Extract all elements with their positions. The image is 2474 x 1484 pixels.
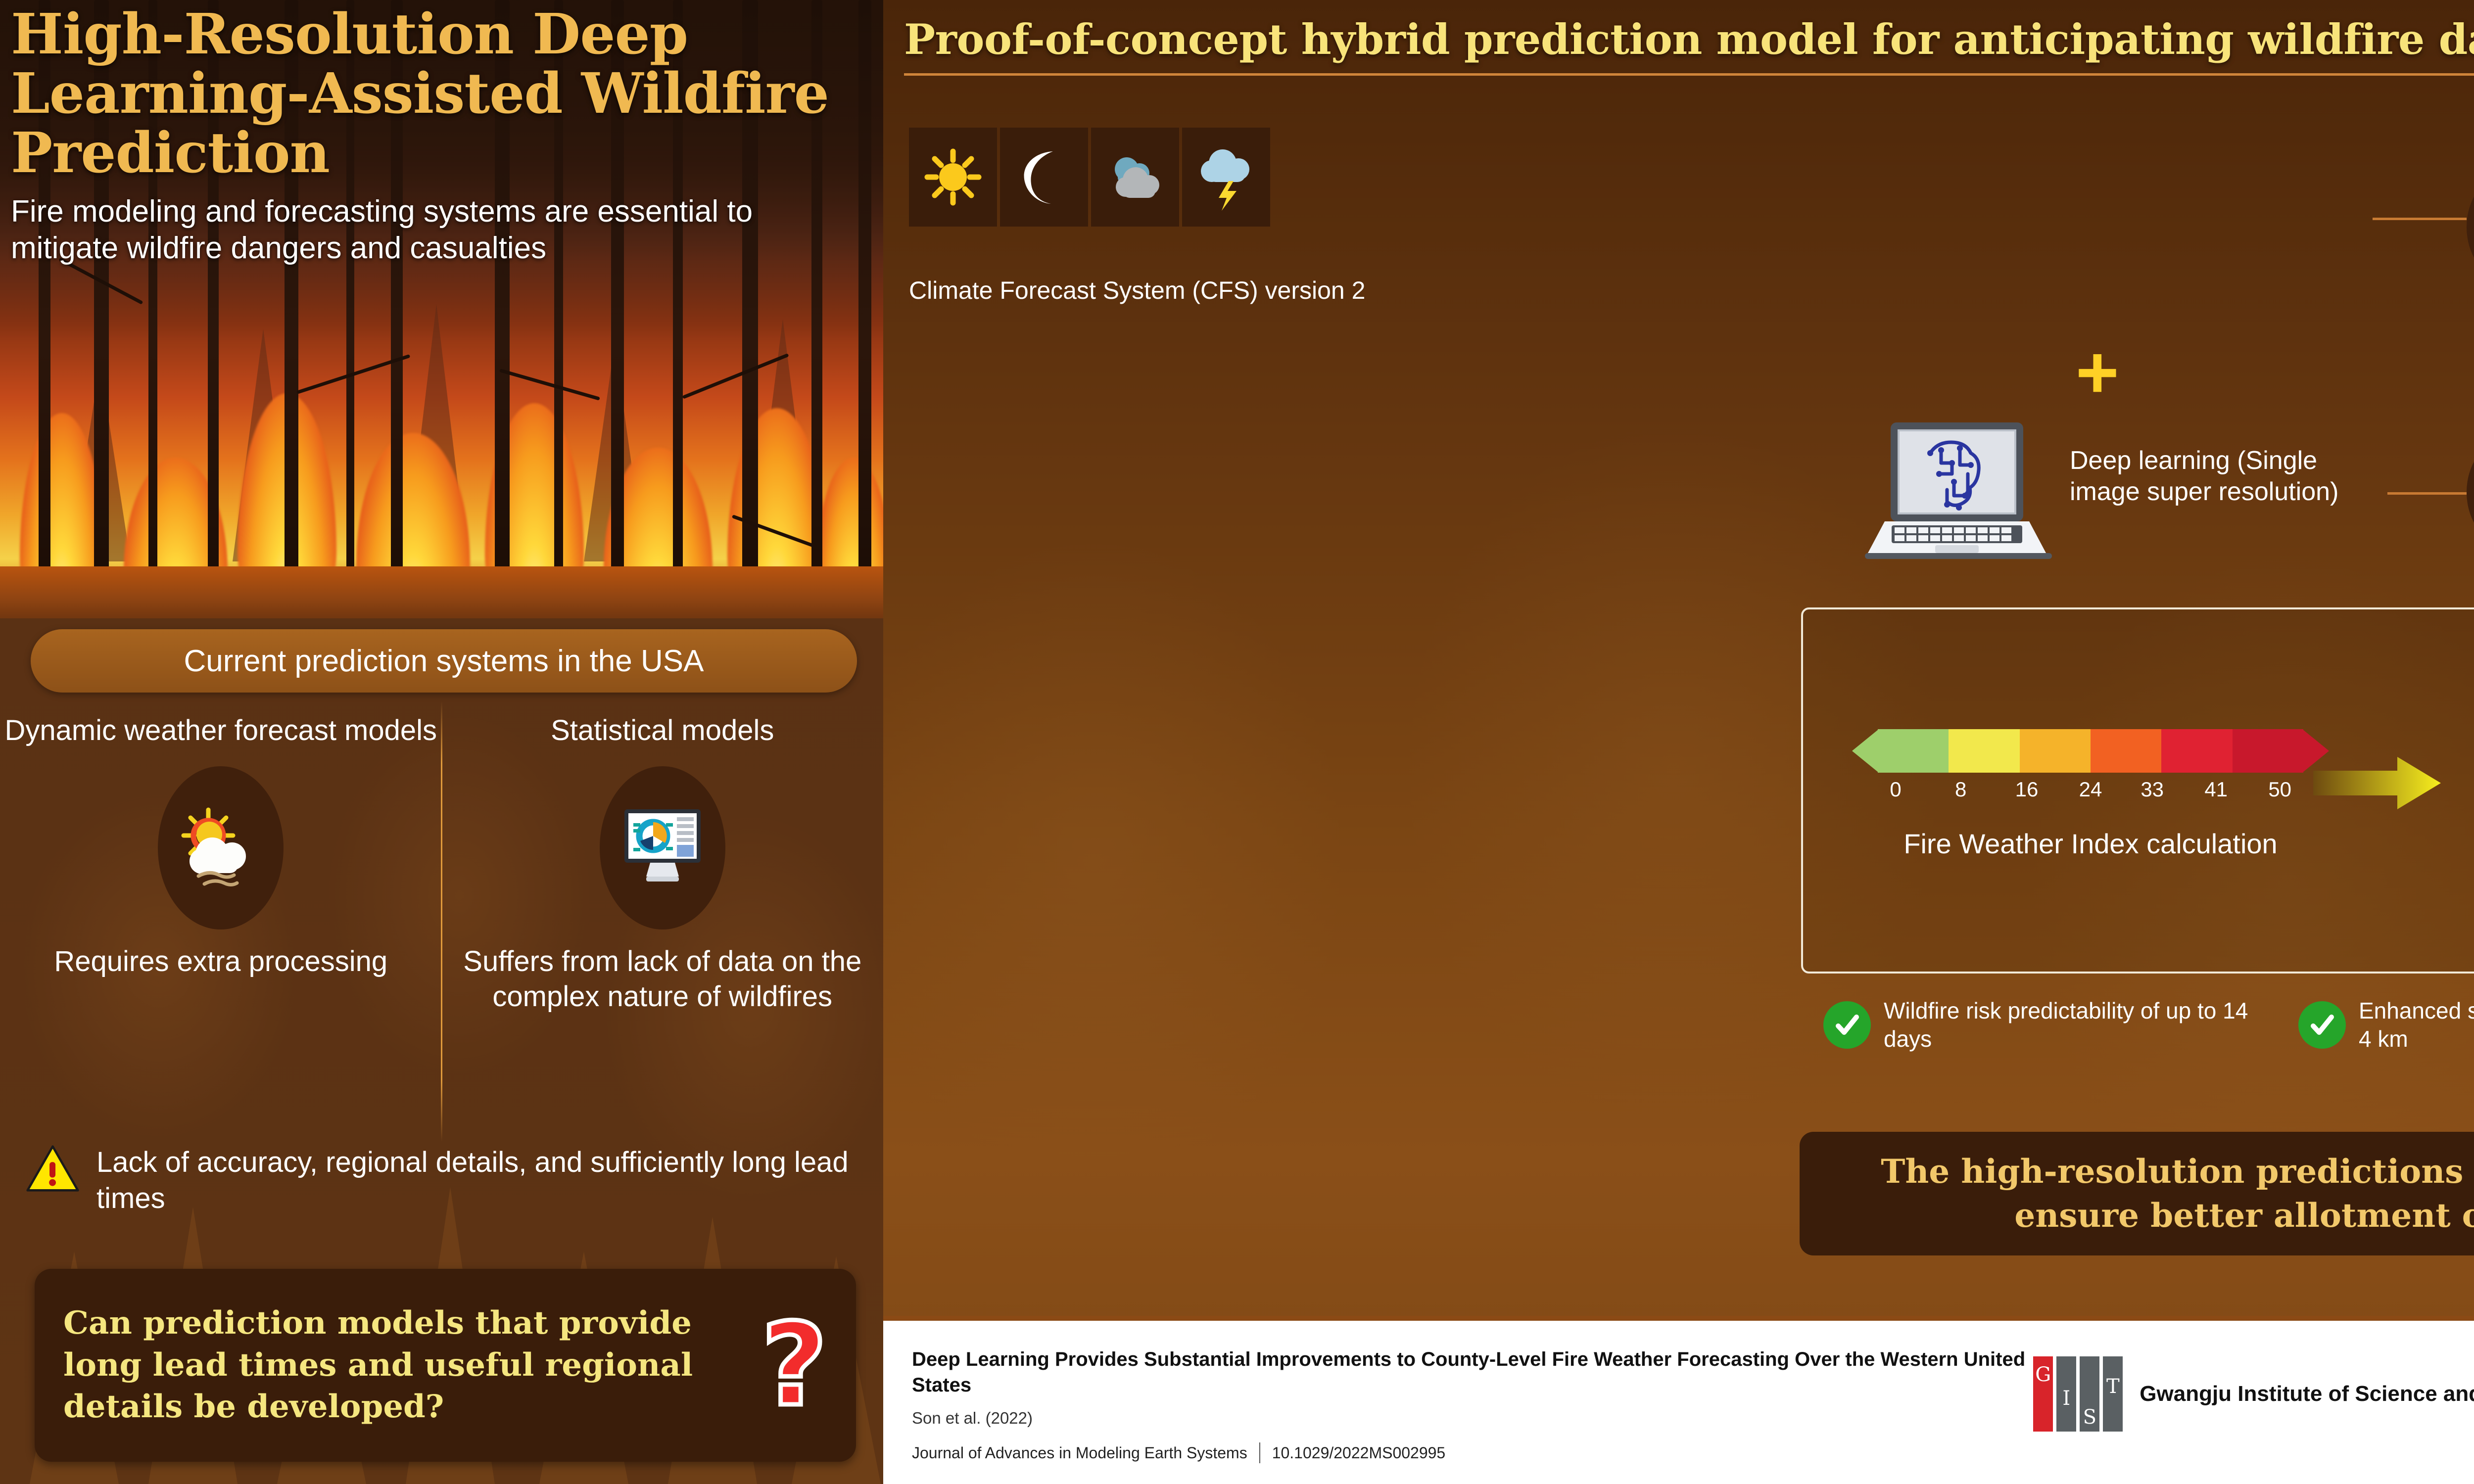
title-block: High-Resolution Deep Learning-Assisted W… [11,5,842,266]
paper-meta: Journal of Advances in Modeling Earth Sy… [912,1442,2033,1463]
usa-banner-label: Current prediction systems in the USA [184,644,704,679]
benefit-text: Enhanced spatial resolution of up to 4 k… [2359,997,2474,1053]
benefits-row: Wildfire risk predictability of up to 14… [1823,997,2474,1053]
gist-block-i: I [2056,1356,2076,1432]
process-step-fwi: 0816 243341 50 Fire Weather Index calcul… [1868,727,2313,860]
check-icon [1823,1001,1871,1049]
thunderstorm-icon [1182,128,1270,227]
model-column-dynamic: Dynamic weather forecast models [0,707,442,1123]
warning-text: Lack of accuracy, regional details, and … [96,1143,862,1216]
model-footnote: Suffers from lack of data on the complex… [455,944,870,1015]
deep-learning-label: Deep learning (Single image super resolu… [2070,445,2347,508]
sun-cloud-wind-icon [158,766,284,929]
process-caption: Interpolation [2464,858,2474,891]
gist-block-g: G [2033,1356,2053,1432]
gist-letter-blocks: G I S T [2033,1356,2123,1432]
journal-name: Journal of Advances in Modeling Earth Sy… [912,1444,1247,1462]
balance-scale-icon [2467,437,2474,547]
sun-icon [909,128,997,227]
usa-systems-banner: Current prediction systems in the USA [31,629,857,693]
model-footnote: Requires extra processing [13,944,428,979]
moon-icon [1000,128,1088,227]
left-panel: High-Resolution Deep Learning-Assisted W… [0,0,883,1484]
conclusion-box: The high-resolution predictions along wi… [1800,1132,2474,1255]
cfs-caption: Climate Forecast System (CFS) version 2 [909,276,1365,305]
plus-icon: + [2076,342,2119,402]
fwi-tick-labels: 0816 243341 50 [1878,778,2303,805]
research-question-text: Can prediction models that provide long … [63,1302,748,1428]
models-vertical-divider [441,701,442,1142]
model-heading: Statistical models [551,713,774,748]
conclusion-text: The high-resolution predictions along wi… [1824,1150,2474,1238]
desktop-chart-icon [600,766,725,929]
fwi-scale-icon [1878,727,2303,775]
research-question-box: Can prediction models that provide long … [35,1269,856,1462]
doi-text[interactable]: 10.1029/2022MS002995 [1272,1444,1446,1462]
connector-cfs-to-wind [2373,218,2467,220]
model-column-statistical: Statistical models [442,707,884,1123]
infographic-poster: High-Resolution Deep Learning-Assisted W… [0,0,2474,1484]
warning-row: Lack of accuracy, regional details, and … [26,1143,862,1216]
process-caption: Fire Weather Index calculation [1868,827,2313,860]
check-icon [2298,1001,2346,1049]
process-step-interpolation: y 1 y 0 x 0 x 1 (x,y) Interpolation [2464,633,2474,891]
meta-separator [1259,1442,1260,1463]
right-panel-title: Proof-of-concept hybrid prediction model… [904,15,2474,64]
cfs-icon-tiles [909,128,1270,227]
benefit-text: Wildfire risk predictability of up to 14… [1884,997,2298,1053]
laptop-brain-icon [1857,420,2060,566]
footer: Deep Learning Provides Substantial Impro… [883,1316,2474,1484]
connector-dl-to-bias [2387,492,2467,495]
gist-logo: G I S T Gwangju Institute of Science and… [2033,1321,2474,1432]
hero-ground [0,566,883,621]
right-panel: Proof-of-concept hybrid prediction model… [883,0,2474,1484]
benefit-item: Wildfire risk predictability of up to 14… [1823,997,2298,1053]
flow-arrow-1 [2313,756,2442,813]
branch-bias: Reduction of internal bias [2467,437,2474,547]
gist-name: Gwangju Institute of Science and Technol… [2140,1380,2474,1408]
warning-triangle-icon [26,1143,80,1194]
gist-block-s: S [2080,1356,2099,1432]
wind-leaves-icon [2467,172,2474,282]
model-heading: Dynamic weather forecast models [4,713,437,748]
page-title: High-Resolution Deep Learning-Assisted W… [11,5,842,183]
gist-block-t: T [2103,1356,2123,1432]
question-mark-icon: ? [761,1314,827,1417]
benefit-item: Enhanced spatial resolution of up to 4 k… [2298,997,2474,1053]
title-rule [904,73,2474,76]
interpolation-chart-icon: y 1 y 0 x 0 x 1 (x,y) [2464,633,2474,841]
cloudy-icon [1091,128,1179,227]
paper-authors: Son et al. (2022) [912,1409,2033,1428]
paper-title: Deep Learning Provides Substantial Impro… [912,1346,2033,1398]
branch-wind: Wind behavior-based predictions [2467,163,2474,291]
footer-citation: Deep Learning Provides Substantial Impro… [883,1321,2033,1463]
page-subtitle: Fire modeling and forecasting systems ar… [11,193,842,266]
